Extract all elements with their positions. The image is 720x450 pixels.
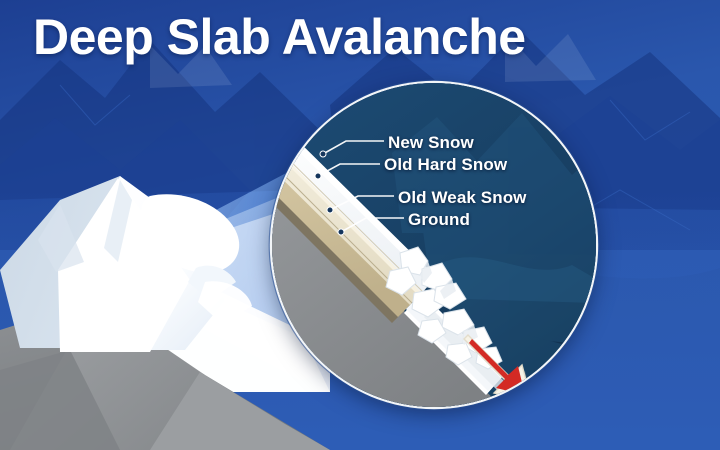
magnifier-circle [272, 83, 596, 407]
avalanche-infographic: Deep Slab Avalanche [0, 0, 720, 450]
page-title: Deep Slab Avalanche [33, 12, 526, 62]
